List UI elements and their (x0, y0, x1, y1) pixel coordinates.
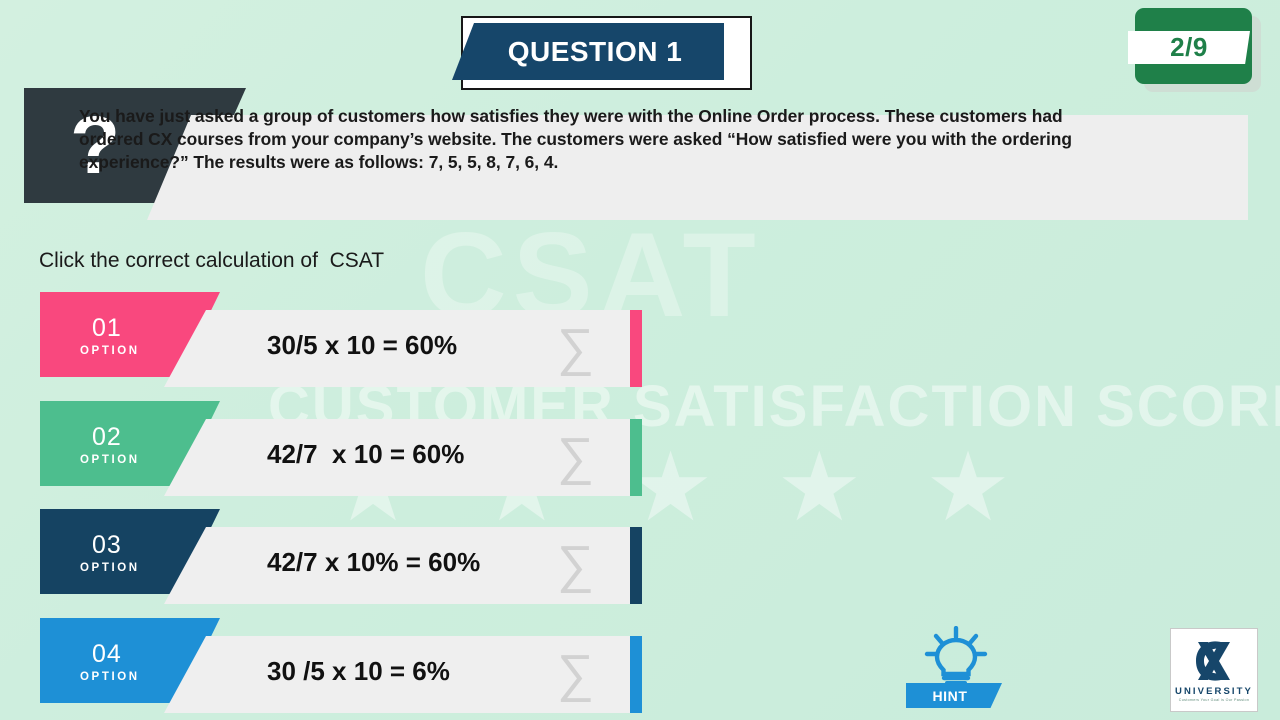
option-panel[interactable]: 30 /5 x 10 = 6%∑ (164, 636, 630, 713)
logo: UNIVERSITY Customers Your Goal is Our Pa… (1170, 628, 1258, 712)
option-text: 30/5 x 10 = 60% (267, 330, 457, 361)
option-text: 42/7 x 10 = 60% (267, 439, 464, 470)
option-row-03[interactable]: 03OPTION42/7 x 10% = 60%∑ (40, 509, 640, 604)
lightbulb-icon (922, 626, 990, 691)
option-number: 02 (92, 425, 122, 450)
question-card: ? You have just asked a group of custome… (24, 88, 1248, 220)
option-number: 04 (92, 642, 122, 667)
question-text: You have just asked a group of customers… (79, 105, 1111, 174)
cx-monogram-icon (1184, 637, 1244, 685)
logo-tagline: Customers Your Goal is Our Passion (1179, 699, 1249, 703)
title-banner-shape: QUESTION 1 (452, 23, 724, 80)
option-label: OPTION (80, 455, 140, 467)
option-accent-bar (630, 310, 642, 387)
hint-banner[interactable]: HINT (906, 683, 1002, 708)
option-number: 01 (92, 316, 122, 341)
option-text: 42/7 x 10% = 60% (267, 547, 480, 578)
option-number: 03 (92, 533, 122, 558)
option-panel[interactable]: 30/5 x 10 = 60%∑ (164, 310, 630, 387)
option-row-04[interactable]: 04OPTION30 /5 x 10 = 6%∑ (40, 618, 640, 713)
option-text: 30 /5 x 10 = 6% (267, 656, 450, 687)
logo-name: UNIVERSITY (1175, 687, 1253, 697)
option-label: OPTION (80, 563, 140, 575)
instruction-text: Click the correct calculation of CSAT (39, 249, 384, 273)
hint-button[interactable]: HINT (906, 626, 1006, 716)
sigma-icon: ∑ (557, 539, 594, 591)
option-panel[interactable]: 42/7 x 10% = 60%∑ (164, 527, 630, 604)
option-row-01[interactable]: 01OPTION30/5 x 10 = 60%∑ (40, 292, 640, 387)
sigma-icon: ∑ (557, 431, 594, 483)
sigma-icon: ∑ (557, 648, 594, 700)
counter-value: 2/9 (1170, 32, 1208, 63)
option-panel[interactable]: 42/7 x 10 = 60%∑ (164, 419, 630, 496)
option-accent-bar (630, 527, 642, 604)
option-accent-bar (630, 636, 642, 713)
hint-label: HINT (932, 688, 975, 704)
option-label: OPTION (80, 346, 140, 358)
option-label: OPTION (80, 672, 140, 684)
question-counter-badge: 2/9 (1135, 8, 1261, 92)
page-title: QUESTION 1 (494, 36, 683, 68)
counter-badge-ribbon: 2/9 (1128, 31, 1250, 64)
question-title-banner: QUESTION 1 (452, 16, 752, 90)
option-accent-bar (630, 419, 642, 496)
sigma-icon: ∑ (557, 322, 594, 374)
option-row-02[interactable]: 02OPTION42/7 x 10 = 60%∑ (40, 401, 640, 496)
